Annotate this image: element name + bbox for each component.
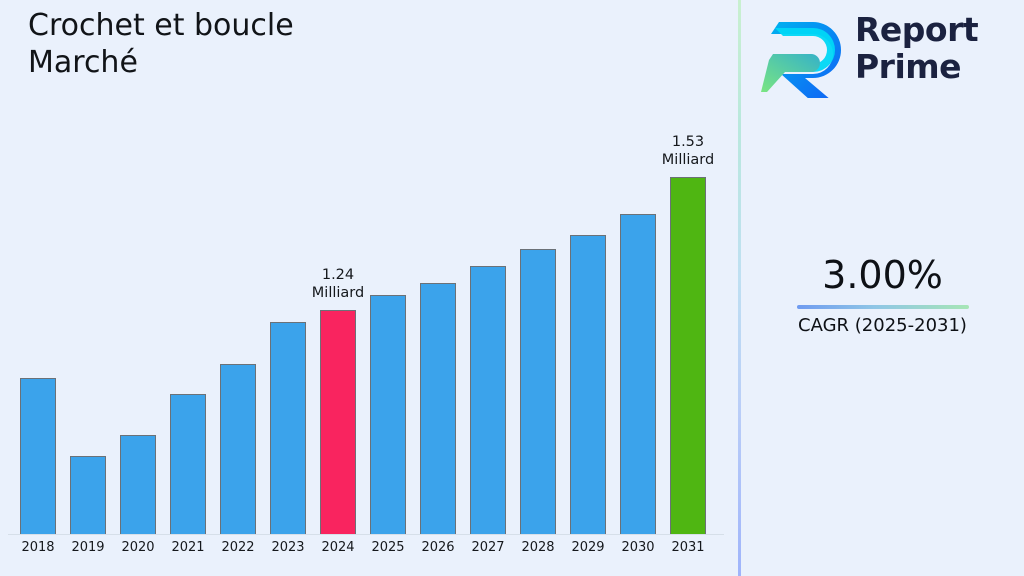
bar-2030 bbox=[620, 214, 656, 534]
bar-value-label-2024: 1.24 Milliard bbox=[293, 267, 383, 302]
chart-panel: Crochet et boucle Marché 1.24 Milliard1.… bbox=[0, 0, 739, 576]
bar-2031 bbox=[670, 177, 706, 534]
x-tick-2031: 2031 bbox=[658, 540, 718, 555]
x-axis-line bbox=[8, 534, 724, 535]
right-panel: Report Prime 3.00% CAGR (2025-2031) bbox=[741, 0, 1024, 576]
cagr-divider-rule bbox=[797, 305, 969, 309]
bar-chart-plot-area: 1.24 Milliard1.53 Milliard 2018201920202… bbox=[0, 0, 739, 576]
cagr-caption: CAGR (2025-2031) bbox=[741, 315, 1024, 336]
bar-2027 bbox=[470, 266, 506, 534]
bar-2020 bbox=[120, 435, 156, 534]
bar-2021 bbox=[170, 394, 206, 534]
bar-value-label-2031: 1.53 Milliard bbox=[643, 134, 733, 169]
cagr-value: 3.00% bbox=[741, 255, 1024, 297]
cagr-block: 3.00% CAGR (2025-2031) bbox=[741, 255, 1024, 336]
report-prime-logo: Report Prime bbox=[761, 10, 1009, 102]
bar-2019 bbox=[70, 456, 106, 534]
bar-2028 bbox=[520, 249, 556, 534]
bar-2024 bbox=[320, 310, 356, 534]
bar-2026 bbox=[420, 283, 456, 534]
bar-2025 bbox=[370, 295, 406, 534]
bar-2023 bbox=[270, 322, 306, 534]
logo-wordmark: Report Prime bbox=[855, 12, 978, 86]
report-prime-logo-mark-icon bbox=[761, 14, 847, 98]
bar-2018 bbox=[20, 378, 56, 534]
bar-2022 bbox=[220, 364, 256, 534]
screenshot-root: Crochet et boucle Marché 1.24 Milliard1.… bbox=[0, 0, 1024, 576]
bar-2029 bbox=[570, 235, 606, 534]
